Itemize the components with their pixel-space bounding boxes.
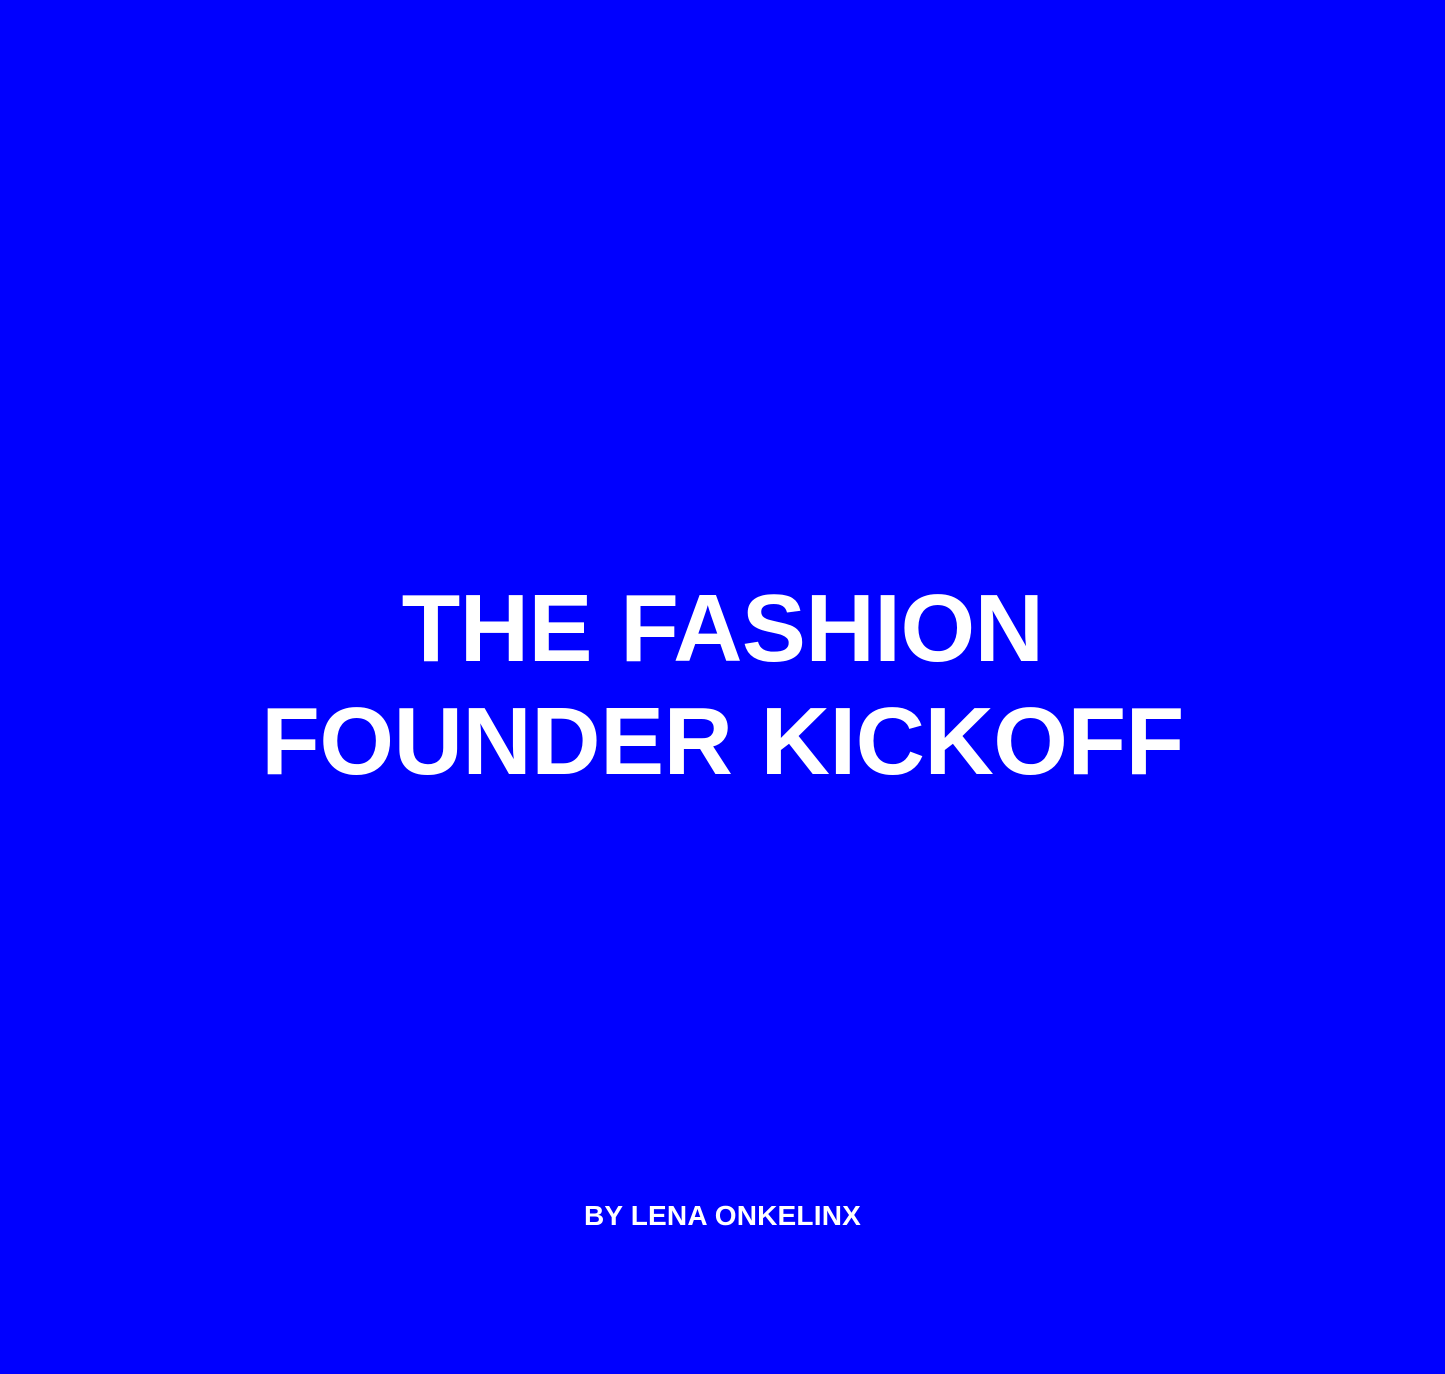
byline: BY LENA ONKELINX: [0, 1200, 1445, 1232]
title-slide: THE FASHION FOUNDER KICKOFF BY LENA ONKE…: [0, 0, 1445, 1374]
byline-block: BY LENA ONKELINX: [0, 1200, 1445, 1232]
slide-title: THE FASHION FOUNDER KICKOFF: [78, 572, 1368, 798]
title-block: THE FASHION FOUNDER KICKOFF: [0, 0, 1445, 798]
